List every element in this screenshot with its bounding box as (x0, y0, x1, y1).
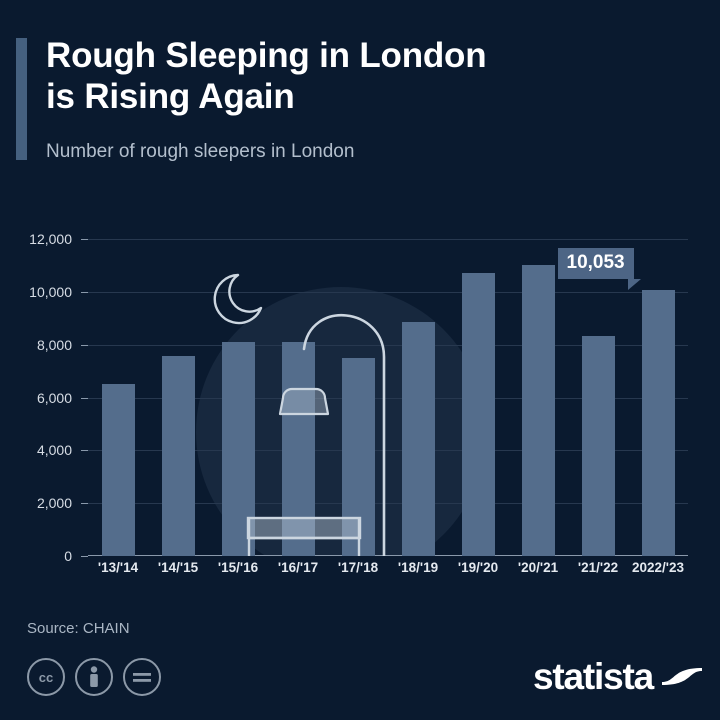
y-axis-tick (81, 345, 88, 346)
value-callout: 10,053 (558, 248, 634, 279)
y-axis-tick-label: 4,000 (2, 443, 72, 457)
bar[interactable] (162, 356, 195, 556)
y-axis-tick-label: 10,000 (2, 285, 72, 299)
infographic-page: Rough Sleeping in London is Rising Again… (0, 0, 720, 720)
bar[interactable] (222, 342, 255, 556)
header: Rough Sleeping in London is Rising Again… (0, 0, 720, 196)
y-axis-tick (81, 450, 88, 451)
chart: 02,0004,0006,0008,00010,00012,000 1 (0, 196, 720, 596)
y-axis-tick (81, 398, 88, 399)
y-axis-tick (81, 503, 88, 504)
bar[interactable] (522, 265, 555, 556)
svg-text:cc: cc (39, 670, 53, 685)
y-axis-tick-label: 6,000 (2, 391, 72, 405)
bar[interactable] (642, 290, 675, 556)
page-subtitle: Number of rough sleepers in London (46, 140, 686, 164)
statista-logo-mark (662, 662, 702, 691)
y-axis-tick-label: 0 (2, 549, 72, 563)
y-axis-tick (81, 239, 88, 240)
source-note: Source: CHAIN (27, 620, 130, 637)
cc-by-person-icon[interactable] (75, 658, 113, 696)
bar[interactable] (342, 358, 375, 556)
y-axis-tick (81, 556, 88, 557)
page-title-line-1: Rough Sleeping in London (46, 35, 686, 76)
y-axis-tick-label: 8,000 (2, 338, 72, 352)
bar[interactable] (402, 322, 435, 556)
statista-logo-text: statista (533, 658, 653, 695)
bar[interactable] (282, 342, 315, 556)
y-axis-tick-label: 2,000 (2, 496, 72, 510)
y-axis-tick (81, 292, 88, 293)
plot-area: 02,0004,0006,0008,00010,00012,000 1 (88, 239, 688, 556)
bar-series (88, 239, 688, 556)
page-title: Rough Sleeping in London is Rising Again (46, 35, 686, 117)
cc-nd-equals-icon[interactable] (123, 658, 161, 696)
value-callout-tail (628, 279, 641, 290)
statista-logo[interactable]: statista (533, 655, 702, 697)
x-axis-labels: '13/'14'14/'15'15/'16'16/'17'17/'18'18/'… (88, 560, 688, 582)
x-axis-tick-label: 2022/'23 (619, 560, 697, 576)
bar[interactable] (462, 273, 495, 556)
y-axis-tick-label: 12,000 (2, 232, 72, 246)
page-title-line-2: is Rising Again (46, 76, 686, 117)
cc-icon[interactable]: cc (27, 658, 65, 696)
bar[interactable] (582, 336, 615, 556)
bar[interactable] (102, 384, 135, 556)
title-accent-bar (16, 38, 27, 160)
